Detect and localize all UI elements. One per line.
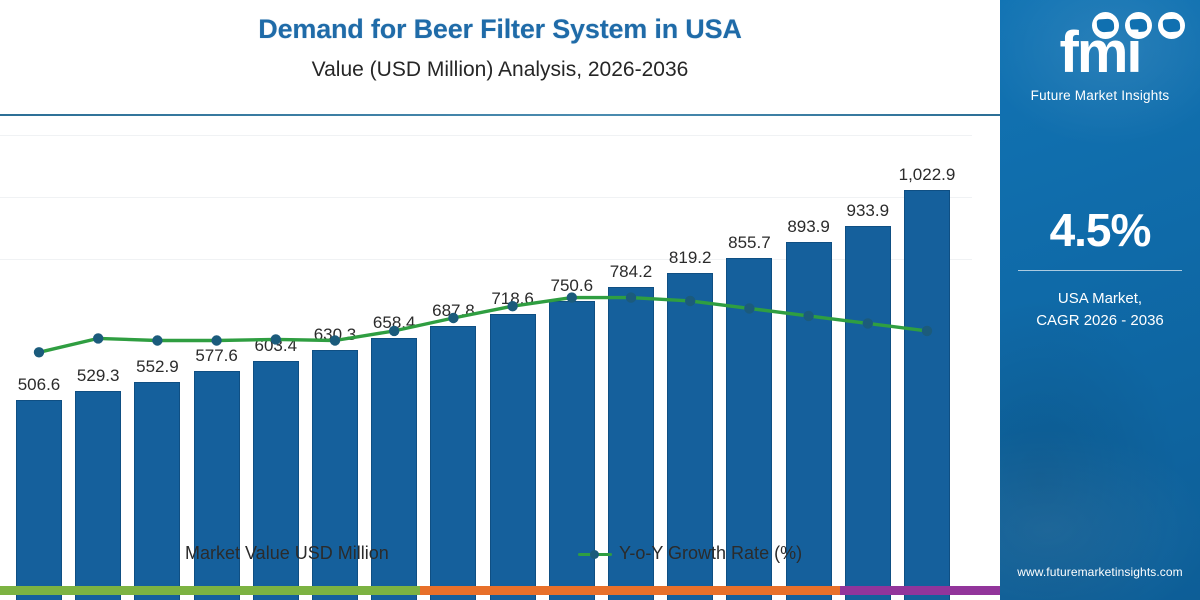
chart-screenshot: Demand for Beer Filter System in USA Val… — [0, 0, 1200, 600]
gridline-1 — [0, 197, 972, 198]
strip-segment-purple — [840, 586, 1000, 595]
chart-legend: Market Value USD Million Y-o-Y Growth Ra… — [0, 540, 1000, 574]
strip-segment-orange — [420, 586, 840, 595]
legend-line-label: Y-o-Y Growth Rate (%) — [619, 543, 802, 564]
website-url: www.futuremarketinsights.com — [1000, 565, 1200, 579]
logo-tagline: Future Market Insights — [1000, 88, 1200, 103]
growth-marker-2022[interactable] — [93, 333, 103, 343]
chart-header: Demand for Beer Filter System in USA Val… — [0, 0, 1000, 116]
page-title: Demand for Beer Filter System in USA — [0, 14, 1000, 45]
legend-bar-label: Market Value USD Million — [185, 543, 389, 564]
cagr-caption-line-1: USA Market, — [1000, 288, 1200, 310]
header-divider — [0, 114, 1000, 116]
chart-panel: Demand for Beer Filter System in USA Val… — [0, 0, 1000, 600]
cagr-divider — [1018, 270, 1182, 271]
growth-marker-2021[interactable] — [34, 347, 44, 357]
cagr-value: 4.5% — [1000, 203, 1200, 257]
brand-panel: fmi Future Market Insights 4.5% USA Mark… — [1000, 0, 1200, 600]
plot-area: 506.6529.3552.9577.6603.4630.3658.4687.8… — [0, 120, 1000, 490]
legend-bar-swatch — [146, 546, 176, 561]
growth-marker-2024[interactable] — [211, 335, 221, 345]
legend-line-swatch — [578, 547, 612, 561]
bar-label-2035: 933.9 — [830, 201, 906, 221]
legend-item-market-value[interactable]: Market Value USD Million — [146, 543, 389, 564]
legend-item-growth-rate[interactable]: Y-o-Y Growth Rate (%) — [578, 543, 802, 564]
cagr-caption: USA Market, CAGR 2026 - 2036 — [1000, 288, 1200, 332]
page-subtitle: Value (USD Million) Analysis, 2026-2036 — [0, 58, 1000, 82]
cagr-caption-line-2: CAGR 2026 - 2036 — [1000, 310, 1200, 332]
footer-color-strip — [0, 586, 1000, 595]
bar-label-2036: 1,022.9 — [889, 165, 965, 185]
logo-wordmark: fmi — [1000, 24, 1200, 82]
strip-segment-green — [0, 586, 420, 595]
fmi-logo[interactable]: fmi Future Market Insights — [1000, 8, 1200, 116]
growth-marker-2023[interactable] — [152, 335, 162, 345]
bar-2036[interactable] — [904, 190, 950, 600]
gridline-0 — [0, 135, 972, 136]
